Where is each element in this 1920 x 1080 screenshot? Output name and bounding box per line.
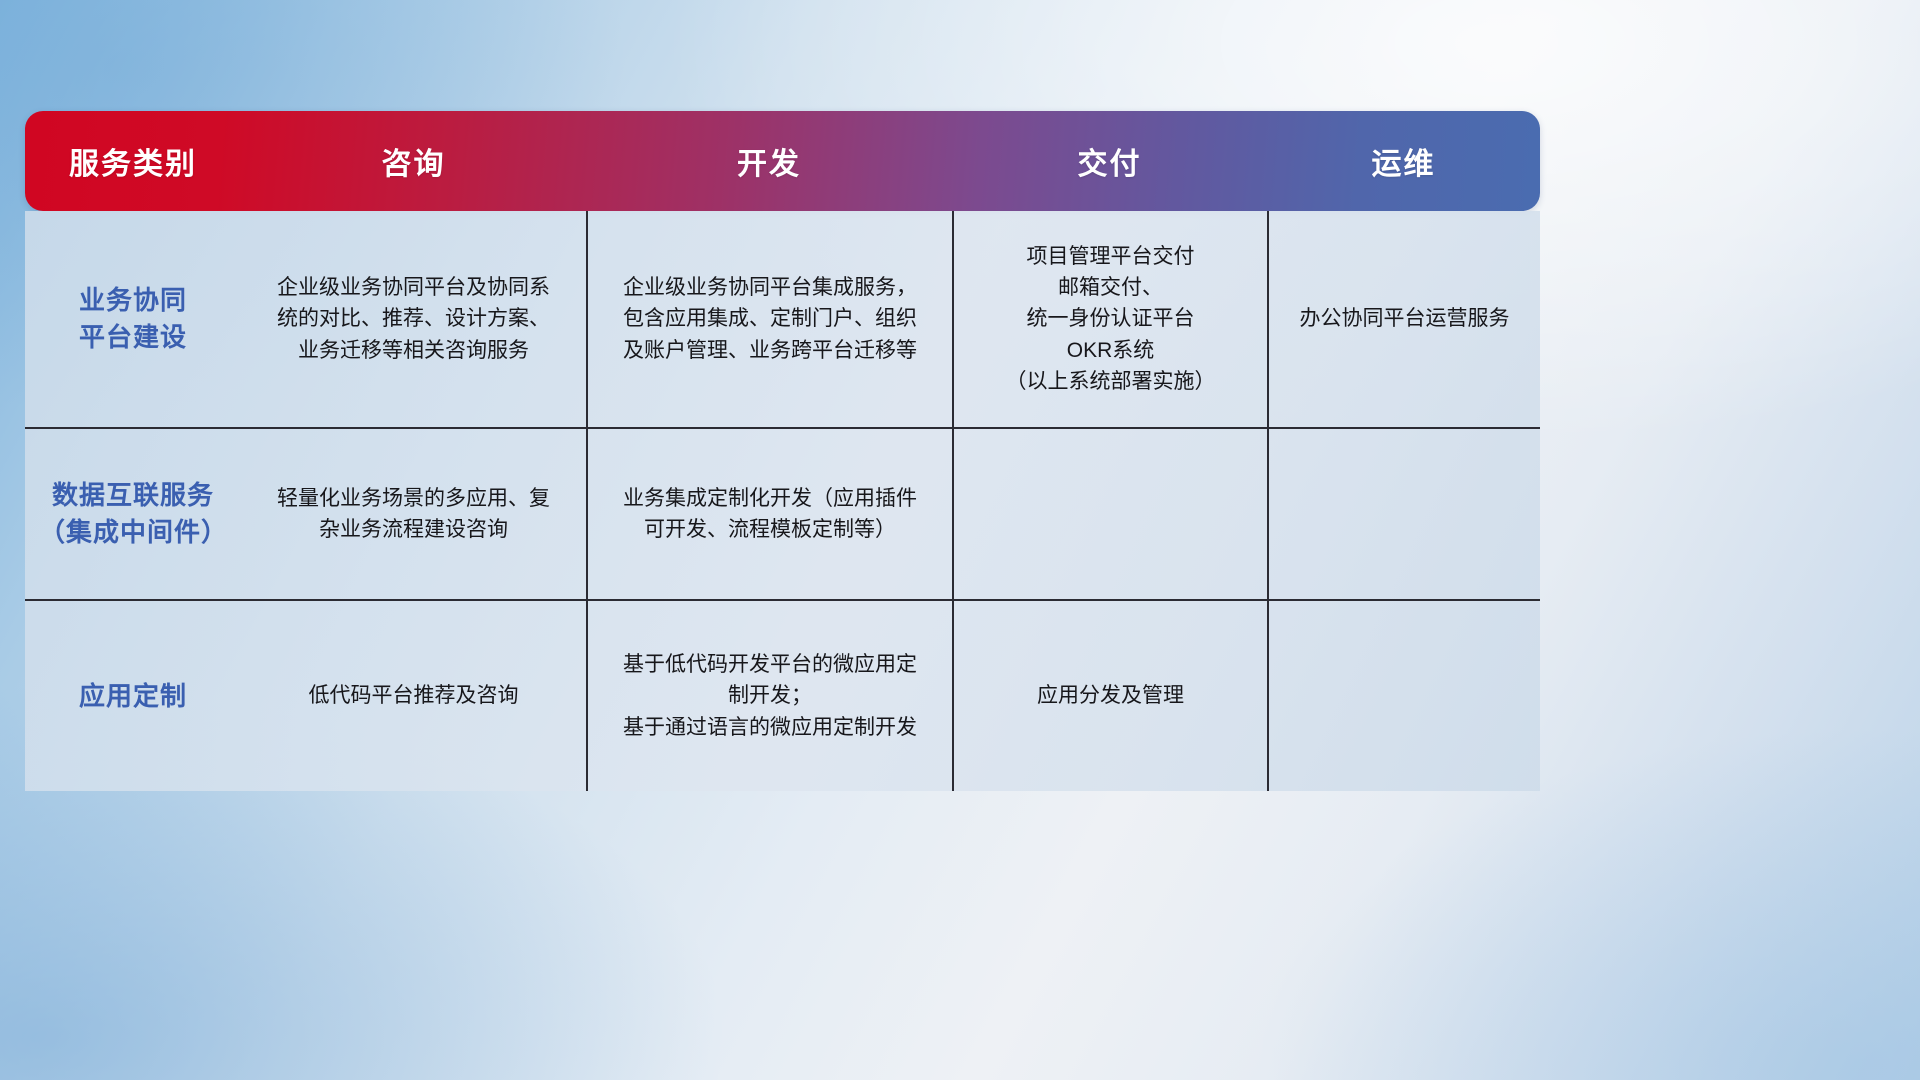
header-delivery: 交付 — [952, 111, 1267, 211]
cell-operations: 办公协同平台运营服务 — [1267, 211, 1540, 427]
cell-development: 业务集成定制化开发（应用插件 可开发、流程模板定制等） — [586, 429, 952, 599]
service-matrix-table: 服务类别 咨询 开发 交付 运维 业务协同 平台建设 企业级业务协同平台及协同系… — [25, 111, 1540, 791]
table-body: 业务协同 平台建设 企业级业务协同平台及协同系 统的对比、推荐、设计方案、 业务… — [25, 211, 1540, 791]
table-row: 应用定制 低代码平台推荐及咨询 基于低代码开发平台的微应用定 制开发； 基于通过… — [25, 599, 1540, 791]
cell-consulting: 低代码平台推荐及咨询 — [241, 601, 586, 791]
cell-delivery — [952, 429, 1267, 599]
cell-consulting: 企业级业务协同平台及协同系 统的对比、推荐、设计方案、 业务迁移等相关咨询服务 — [241, 211, 586, 427]
header-service-category: 服务类别 — [25, 111, 241, 211]
table-header-row: 服务类别 咨询 开发 交付 运维 — [25, 111, 1540, 211]
cell-development: 基于低代码开发平台的微应用定 制开发； 基于通过语言的微应用定制开发 — [586, 601, 952, 791]
cell-operations — [1267, 429, 1540, 599]
cell-delivery: 项目管理平台交付 邮箱交付、 统一身份认证平台 OKR系统 （以上系统部署实施） — [952, 211, 1267, 427]
header-development: 开发 — [586, 111, 952, 211]
table-row: 数据互联服务 （集成中间件） 轻量化业务场景的多应用、复 杂业务流程建设咨询 业… — [25, 427, 1540, 599]
row-category-label: 数据互联服务 （集成中间件） — [25, 429, 241, 599]
row-category-label: 业务协同 平台建设 — [25, 211, 241, 427]
cell-development: 企业级业务协同平台集成服务， 包含应用集成、定制门户、组织 及账户管理、业务跨平… — [586, 211, 952, 427]
table-row: 业务协同 平台建设 企业级业务协同平台及协同系 统的对比、推荐、设计方案、 业务… — [25, 211, 1540, 427]
header-consulting: 咨询 — [241, 111, 586, 211]
row-category-label: 应用定制 — [25, 601, 241, 791]
cell-delivery: 应用分发及管理 — [952, 601, 1267, 791]
cell-consulting: 轻量化业务场景的多应用、复 杂业务流程建设咨询 — [241, 429, 586, 599]
cell-operations — [1267, 601, 1540, 791]
header-operations: 运维 — [1267, 111, 1540, 211]
